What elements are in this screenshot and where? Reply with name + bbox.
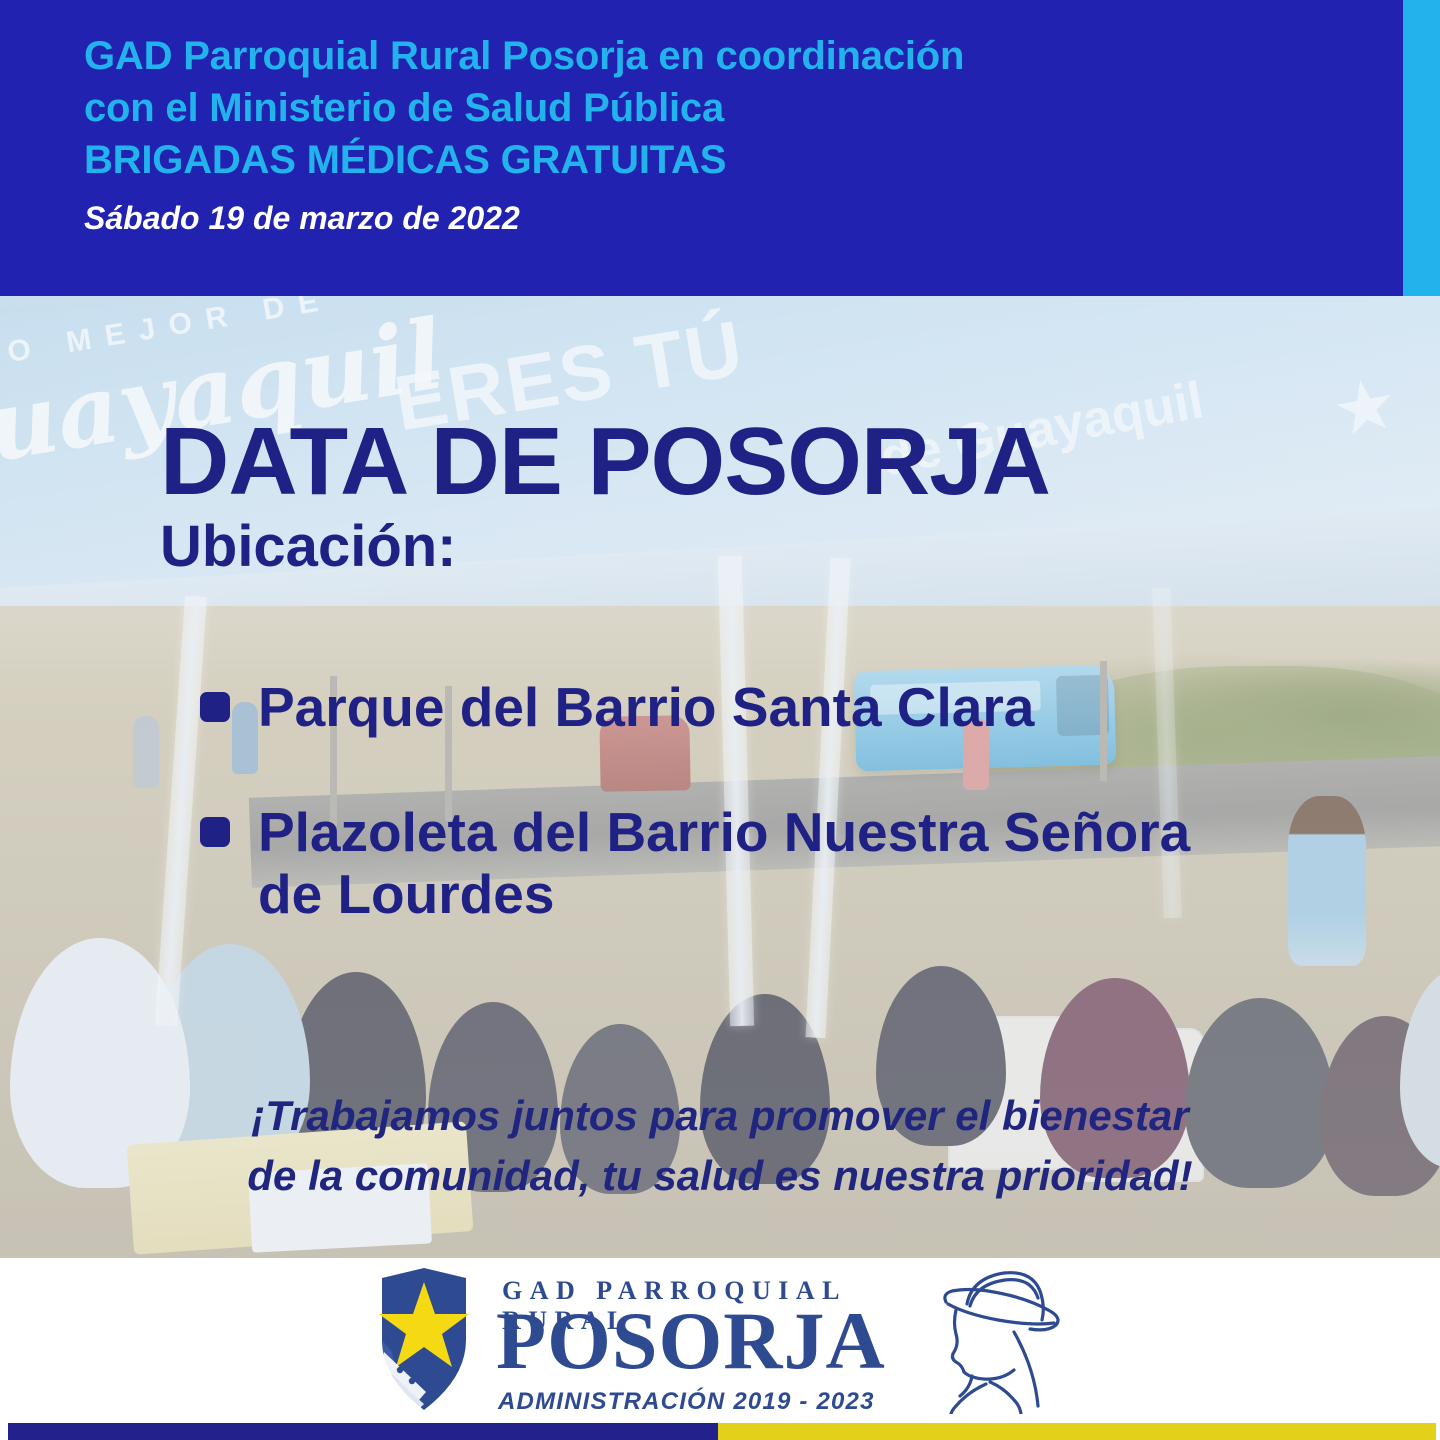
organization-logo: GAD PARROQUIAL RURAL POSORJA ADMINISTRAC… (0, 1266, 1440, 1414)
location-item-2: Plazoleta del Barrio Nuestra Señora de L… (258, 801, 1258, 926)
bullet-square-icon (200, 692, 230, 722)
location-item-1: Parque del Barrio Santa Clara (258, 676, 1034, 739)
location-heading: Ubicación: (160, 518, 457, 576)
location-list: Parque del Barrio Santa Clara Plazoleta … (200, 676, 1320, 988)
shield-emblem-icon (364, 1266, 484, 1414)
logo-wordmark: GAD PARROQUIAL RURAL POSORJA ADMINISTRAC… (490, 1266, 920, 1414)
list-item: Parque del Barrio Santa Clara (200, 676, 1320, 739)
header-line-1: GAD Parroquial Rural Posorja en coordina… (84, 30, 1374, 82)
bottom-bar-blue-segment (8, 1423, 718, 1440)
header-banner: GAD Parroquial Rural Posorja en coordina… (0, 0, 1440, 296)
logo-bottom-text: ADMINISTRACIÓN 2019 - 2023 (498, 1388, 875, 1416)
slogan-line-2: de la comunidad, tu salud es nuestra pri… (0, 1146, 1440, 1206)
page-title: DATA DE POSORJA (160, 414, 1050, 510)
list-item: Plazoleta del Barrio Nuestra Señora de L… (200, 801, 1320, 926)
slogan-block: ¡Trabajamos juntos para promover el bien… (0, 1086, 1440, 1205)
logo-main-text: POSORJA (496, 1300, 886, 1382)
header-accent-strip (1403, 0, 1440, 296)
bottom-bar-yellow-segment (718, 1423, 1436, 1440)
footer-band: GAD PARROQUIAL RURAL POSORJA ADMINISTRAC… (0, 1258, 1440, 1440)
bottom-color-bar (0, 1423, 1440, 1440)
poster-canvas: GAD Parroquial Rural Posorja en coordina… (0, 0, 1440, 1440)
header-date: Sábado 19 de marzo de 2022 (84, 198, 1374, 238)
header-line-3: BRIGADAS MÉDICAS GRATUITAS (84, 134, 1374, 186)
man-with-hat-icon (926, 1266, 1076, 1414)
header-line-2: con el Ministerio de Salud Pública (84, 82, 1374, 134)
content-overlay: DATA DE POSORJA Ubicación: Parque del Ba… (0, 296, 1440, 1258)
bullet-square-icon (200, 817, 230, 847)
slogan-line-1: ¡Trabajamos juntos para promover el bien… (0, 1086, 1440, 1146)
header-text-block: GAD Parroquial Rural Posorja en coordina… (84, 30, 1374, 238)
